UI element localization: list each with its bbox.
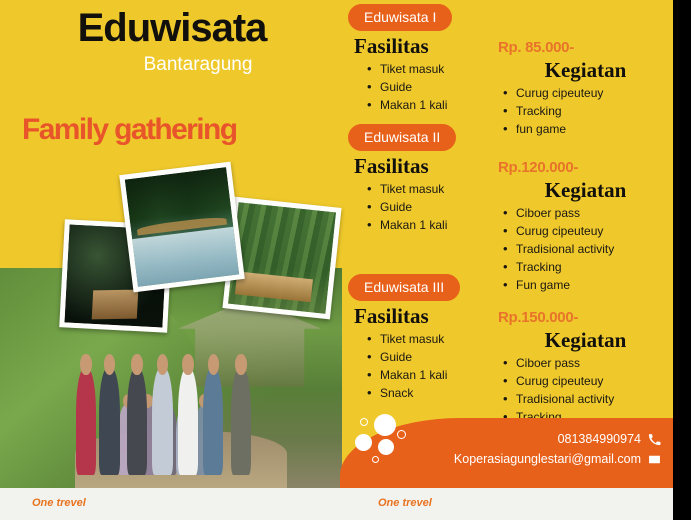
- list-item: Guide: [364, 200, 498, 215]
- list-item: Tiket masuk: [364, 332, 498, 347]
- package-card-1: Eduwisata I Fasilitas Tiket masuk Guide …: [348, 4, 673, 140]
- right-gutter: [673, 0, 691, 520]
- tagline: Family gathering: [22, 113, 236, 147]
- list-item: Tiket masuk: [364, 62, 498, 77]
- contact-phone-value: 081384990974: [558, 432, 641, 447]
- list-item: Curug cipeuteuy: [500, 374, 673, 389]
- facilities-list-2: Tiket masuk Guide Makan 1 kali: [348, 182, 498, 233]
- facilities-heading-3: Fasilitas: [348, 305, 498, 328]
- envelope-icon: [648, 453, 661, 466]
- list-item: Guide: [364, 350, 498, 365]
- list-item: Ciboer pass: [500, 206, 673, 221]
- activities-heading-3: Kegiatan: [498, 329, 673, 352]
- list-item: Guide: [364, 80, 498, 95]
- list-item: Makan 1 kali: [364, 218, 498, 233]
- phone-icon: [648, 433, 661, 446]
- list-item: Tracking: [500, 104, 673, 119]
- list-item: Ciboer pass: [500, 356, 673, 371]
- slide-caption-bar: One trevel One trevel: [0, 488, 673, 520]
- poster-slide: Eduwisata Bantaragung Family gathering: [0, 0, 673, 488]
- package-price-2: Rp.120.000-: [498, 159, 673, 176]
- page-subtitle: Bantaragung: [0, 54, 340, 76]
- decorative-bubbles: [352, 414, 422, 470]
- package-price-1: Rp. 85.000-: [498, 39, 673, 56]
- eduwisata-poster: Eduwisata Bantaragung Family gathering: [0, 0, 691, 520]
- caption-right: One trevel: [378, 497, 432, 509]
- contact-phone-row[interactable]: 081384990974: [454, 432, 661, 447]
- list-item: Tradisional activity: [500, 392, 673, 407]
- facilities-heading-1: Fasilitas: [348, 35, 498, 58]
- facilities-list-3: Tiket masuk Guide Makan 1 kali Snack: [348, 332, 498, 401]
- caption-left: One trevel: [32, 497, 86, 509]
- list-item: Snack: [364, 386, 498, 401]
- list-item: Makan 1 kali: [364, 98, 498, 113]
- list-item: Curug cipeuteuy: [500, 224, 673, 239]
- page-title: Eduwisata: [0, 8, 340, 48]
- package-card-2: Eduwisata II Fasilitas Tiket masuk Guide…: [348, 124, 673, 296]
- contact-info: 081384990974 Koperasiagunglestari@gmail.…: [454, 432, 661, 472]
- slide-divider: [340, 0, 341, 488]
- package-price-3: Rp.150.000-: [498, 309, 673, 326]
- list-item: Tradisional activity: [500, 242, 673, 257]
- list-item: Curug cipeuteuy: [500, 86, 673, 101]
- list-item: Makan 1 kali: [364, 368, 498, 383]
- activities-heading-1: Kegiatan: [498, 59, 673, 82]
- waterfall-bridge-photo: [119, 162, 245, 293]
- list-item: Tracking: [500, 260, 673, 275]
- package-badge-2[interactable]: Eduwisata II: [348, 124, 456, 151]
- package-badge-3[interactable]: Eduwisata III: [348, 274, 460, 301]
- facilities-heading-2: Fasilitas: [348, 155, 498, 178]
- headline-block: Eduwisata Bantaragung: [0, 8, 340, 76]
- contact-email-row[interactable]: Koperasiagunglestari@gmail.com: [454, 452, 661, 467]
- contact-email-value: Koperasiagunglestari@gmail.com: [454, 452, 641, 467]
- package-badge-1[interactable]: Eduwisata I: [348, 4, 452, 31]
- list-item: Tiket masuk: [364, 182, 498, 197]
- activities-heading-2: Kegiatan: [498, 179, 673, 202]
- facilities-list-1: Tiket masuk Guide Makan 1 kali: [348, 62, 498, 113]
